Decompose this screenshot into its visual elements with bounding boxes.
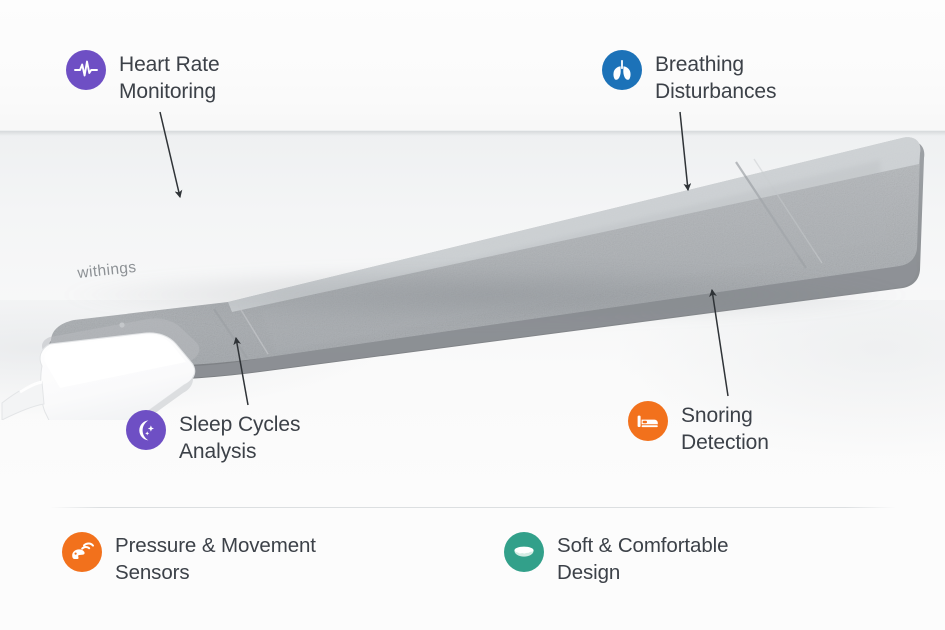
- control-unit: [2, 318, 199, 420]
- lungs-icon: [602, 50, 642, 90]
- mat-drop-shadow: [55, 265, 915, 325]
- bed-icon: [628, 401, 668, 441]
- feature-soft-design[interactable]: Soft & Comfortable Design: [504, 532, 728, 586]
- feature-sleep-cycles[interactable]: Sleep Cycles Analysis: [126, 410, 300, 466]
- feature-snoring[interactable]: Snoring Detection: [628, 401, 769, 457]
- feature-label: Sleep Cycles Analysis: [179, 410, 300, 466]
- section-divider: [50, 507, 896, 508]
- product-photo: withings: [0, 120, 945, 420]
- feature-label: Breathing Disturbances: [655, 50, 776, 106]
- heart-rate-icon: [66, 50, 106, 90]
- feature-label: Soft & Comfortable Design: [557, 532, 728, 586]
- infographic-canvas: withings Heart Rate Monitoring: [0, 0, 945, 630]
- feature-breathing[interactable]: Breathing Disturbances: [602, 50, 776, 106]
- moon-stars-icon: [126, 410, 166, 450]
- feature-heart-rate[interactable]: Heart Rate Monitoring: [66, 50, 220, 106]
- power-cable: [2, 382, 44, 420]
- feature-label: Snoring Detection: [681, 401, 769, 457]
- feature-pressure[interactable]: Pressure & Movement Sensors: [62, 532, 316, 586]
- pillow-icon: [504, 532, 544, 572]
- pressure-waves-icon: [62, 532, 102, 572]
- feature-label: Pressure & Movement Sensors: [115, 532, 316, 586]
- feature-label: Heart Rate Monitoring: [119, 50, 220, 106]
